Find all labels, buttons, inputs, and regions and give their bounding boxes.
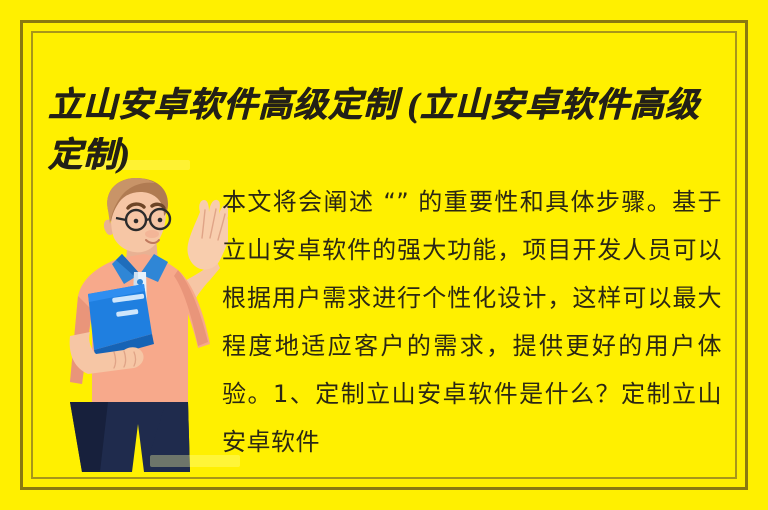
shirt-button-top <box>137 279 143 285</box>
article-card: 立山安卓软件高级定制 (立山安卓软件高级定制) <box>0 0 768 510</box>
eye-left <box>134 219 139 224</box>
illustration-man-waving-holding-book <box>48 176 228 472</box>
eye-right <box>158 218 163 223</box>
article-title: 立山安卓软件高级定制 (立山安卓软件高级定制) <box>48 81 728 181</box>
illustration-svg <box>48 176 228 472</box>
article-body: 本文将会阐述 “” 的重要性和具体步骤。基于立山安卓软件的强大功能，项目开发人员… <box>222 178 722 470</box>
cheek-blush <box>145 230 159 238</box>
